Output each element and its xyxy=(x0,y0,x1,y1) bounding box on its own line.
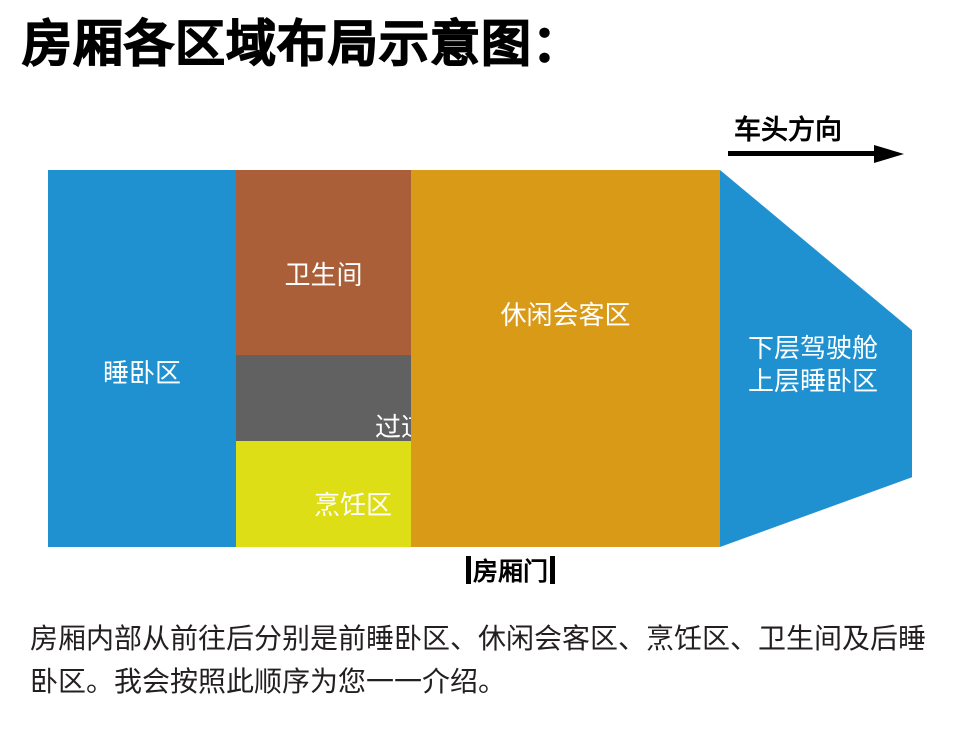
zone-label-cab: 下层驾驶舱 上层睡卧区 xyxy=(748,333,878,398)
zone-sleeping-area: 睡卧区 xyxy=(48,170,236,547)
caption-text: 房厢内部从前往后分别是前睡卧区、休闲会客区、烹饪区、卫生间及后睡卧区。我会按照此… xyxy=(30,617,930,704)
cabin-layout-diagram: 睡卧区 卫生间 过道 烹饪区 休闲会客区 下层驾驶舱 上层睡卧区 xyxy=(0,0,960,600)
zone-label-bathroom: 卫生间 xyxy=(284,260,362,293)
zone-label-cooking: 烹饪区 xyxy=(314,490,392,523)
zone-cab-area: 下层驾驶舱 上层睡卧区 xyxy=(720,170,912,547)
door-marker: 房厢门 xyxy=(466,552,555,588)
page-root: 房厢各区域布局示意图： 车头方向 睡卧区 卫生间 过道 烹饪区 休闲会客区 下层… xyxy=(0,0,960,740)
zone-bathroom: 卫生间 xyxy=(236,170,411,355)
zone-lounge-area: 休闲会客区 xyxy=(411,170,720,547)
zone-label-sleeping: 睡卧区 xyxy=(103,358,181,391)
zone-label-lounge: 休闲会客区 xyxy=(500,300,630,333)
door-tick-right-icon xyxy=(550,556,555,584)
door-label: 房厢门 xyxy=(471,552,550,588)
